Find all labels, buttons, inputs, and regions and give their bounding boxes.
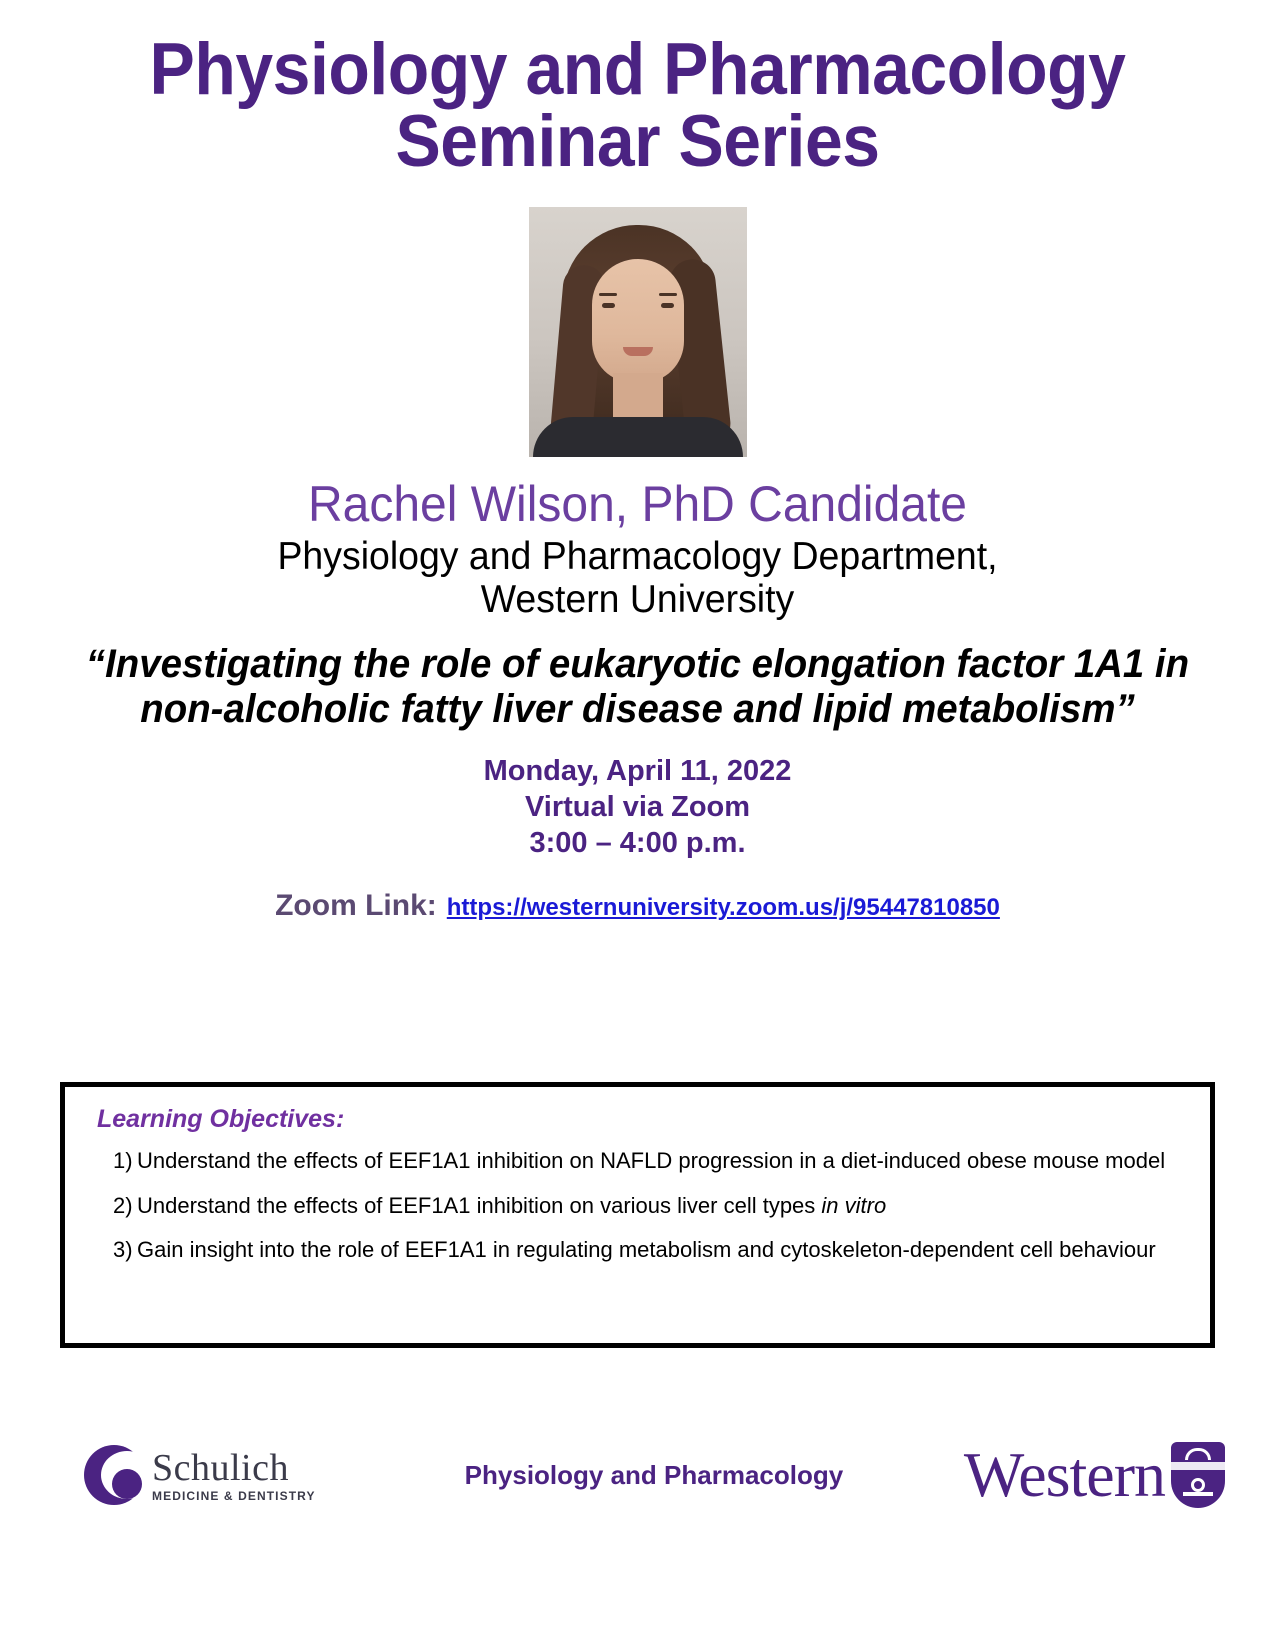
photo-eye-right	[661, 303, 674, 308]
schulich-name: Schulich	[152, 1449, 316, 1487]
event-details: Monday, April 11, 2022 Virtual via Zoom …	[56, 754, 1219, 861]
speaker-affiliation: Physiology and Pharmacology Department, …	[79, 535, 1195, 622]
learning-objectives-heading: Learning Objectives:	[97, 1105, 1184, 1134]
shield-arc	[1185, 1448, 1211, 1460]
list-item-number: 1)	[91, 1148, 137, 1175]
photo-eye-left	[602, 303, 615, 308]
list-item-text: Understand the effects of EEF1A1 inhibit…	[137, 1193, 1184, 1220]
event-time: 3:00 – 4:00 p.m.	[56, 826, 1219, 862]
photo-face	[592, 259, 684, 383]
department-name: Physiology and Pharmacology	[344, 1460, 964, 1491]
schulich-tagline: MEDICINE & DENTISTRY	[152, 1490, 316, 1502]
zoom-link-row: Zoom Link: https://westernuniversity.zoo…	[56, 889, 1219, 923]
list-item-number: 3)	[91, 1237, 137, 1264]
photo-mouth	[623, 347, 653, 356]
shield-dot	[1191, 1478, 1205, 1492]
schulich-logo: Schulich MEDICINE & DENTISTRY	[84, 1445, 384, 1505]
list-item: 2) Understand the effects of EEF1A1 inhi…	[91, 1193, 1184, 1220]
headshot-container	[56, 207, 1219, 457]
shield-bar	[1183, 1492, 1213, 1496]
seminar-poster: Physiology and Pharmacology Seminar Seri…	[0, 0, 1275, 1650]
list-item: 3) Gain insight into the role of EEF1A1 …	[91, 1237, 1184, 1264]
list-item-number: 2)	[91, 1193, 137, 1220]
photo-neck	[613, 373, 663, 419]
list-item-text-lead: Understand the effects of EEF1A1 inhibit…	[137, 1193, 821, 1218]
event-date: Monday, April 11, 2022	[56, 754, 1219, 790]
list-item-text: Gain insight into the role of EEF1A1 in …	[137, 1237, 1184, 1264]
page-title: Physiology and Pharmacology Seminar Seri…	[97, 0, 1179, 179]
zoom-link-url[interactable]: https://westernuniversity.zoom.us/j/9544…	[447, 894, 1000, 922]
western-shield-icon	[1171, 1442, 1225, 1508]
schulich-dot	[112, 1469, 142, 1499]
learning-objectives-box: Learning Objectives: 1) Understand the e…	[60, 1082, 1215, 1348]
western-wordmark: Western	[964, 1443, 1165, 1507]
speaker-headshot-photo	[529, 207, 747, 457]
schulich-crescent-icon	[84, 1445, 144, 1505]
photo-brow-left	[599, 293, 617, 296]
speaker-name: Rachel Wilson, PhD Candidate	[79, 477, 1195, 531]
shield-band	[1171, 1462, 1225, 1470]
learning-objectives-list: 1) Understand the effects of EEF1A1 inhi…	[91, 1148, 1184, 1264]
event-location: Virtual via Zoom	[56, 790, 1219, 826]
talk-title: “Investigating the role of eukaryotic el…	[79, 642, 1195, 732]
photo-shoulders	[533, 417, 743, 457]
list-item: 1) Understand the effects of EEF1A1 inhi…	[91, 1148, 1184, 1175]
list-item-text-emphasis: in vitro	[821, 1193, 886, 1218]
western-logo: Western	[964, 1442, 1225, 1508]
list-item-text: Understand the effects of EEF1A1 inhibit…	[137, 1148, 1184, 1175]
footer: Schulich MEDICINE & DENTISTRY Physiology…	[60, 1410, 1235, 1540]
schulich-wordmark: Schulich MEDICINE & DENTISTRY	[152, 1449, 316, 1502]
photo-brow-right	[659, 293, 677, 296]
zoom-link-label: Zoom Link:	[275, 889, 437, 923]
